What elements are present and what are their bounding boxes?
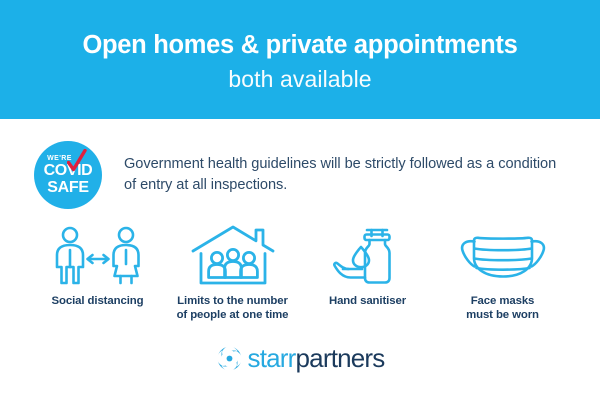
house-occupancy-limit-icon	[190, 225, 276, 287]
covid-safe-poster: Open homes & private appointments both a…	[0, 0, 600, 400]
page-subtitle: both available	[228, 66, 371, 92]
face-mask-icon	[457, 228, 549, 284]
hand-sanitiser-icon	[331, 225, 405, 287]
feature-label: Limits to the number of people at one ti…	[177, 295, 289, 323]
feature-social-distancing: Social distancing	[30, 225, 165, 309]
brand-logo: starrpartners	[0, 345, 600, 372]
page-title: Open homes & private appointments	[82, 31, 517, 60]
feature-hand-sanitiser: Hand sanitiser	[300, 225, 435, 309]
feature-art	[190, 225, 276, 287]
header-banner: Open homes & private appointments both a…	[0, 0, 600, 119]
health-guidelines-text: Government health guidelines will be str…	[124, 154, 564, 195]
feature-label: Face masks must be worn	[466, 295, 539, 323]
covid-safe-badge: WE'RE COVID SAFE	[34, 141, 102, 209]
feature-label: Hand sanitiser	[329, 295, 406, 309]
logo-word-partners: partners	[296, 345, 385, 371]
logo-word-starr: starr	[248, 345, 296, 371]
feature-face-mask: Face masks must be worn	[435, 225, 570, 323]
feature-art	[50, 225, 146, 287]
feature-art	[457, 225, 549, 287]
statement-row: WE'RE COVID SAFE Government health guide…	[0, 119, 600, 209]
feature-occupancy-limit: Limits to the number of people at one ti…	[165, 225, 300, 323]
feature-label: Social distancing	[52, 295, 144, 309]
feature-icon-row: Social distancing	[0, 209, 600, 323]
starr-partners-pinwheel-icon	[216, 345, 243, 372]
logo-wordmark: starrpartners	[248, 345, 385, 371]
covid-safe-badge-safe-text: SAFE	[47, 180, 88, 195]
feature-art	[331, 225, 405, 287]
social-distancing-icon	[50, 226, 146, 286]
red-checkmark-icon	[67, 149, 87, 175]
